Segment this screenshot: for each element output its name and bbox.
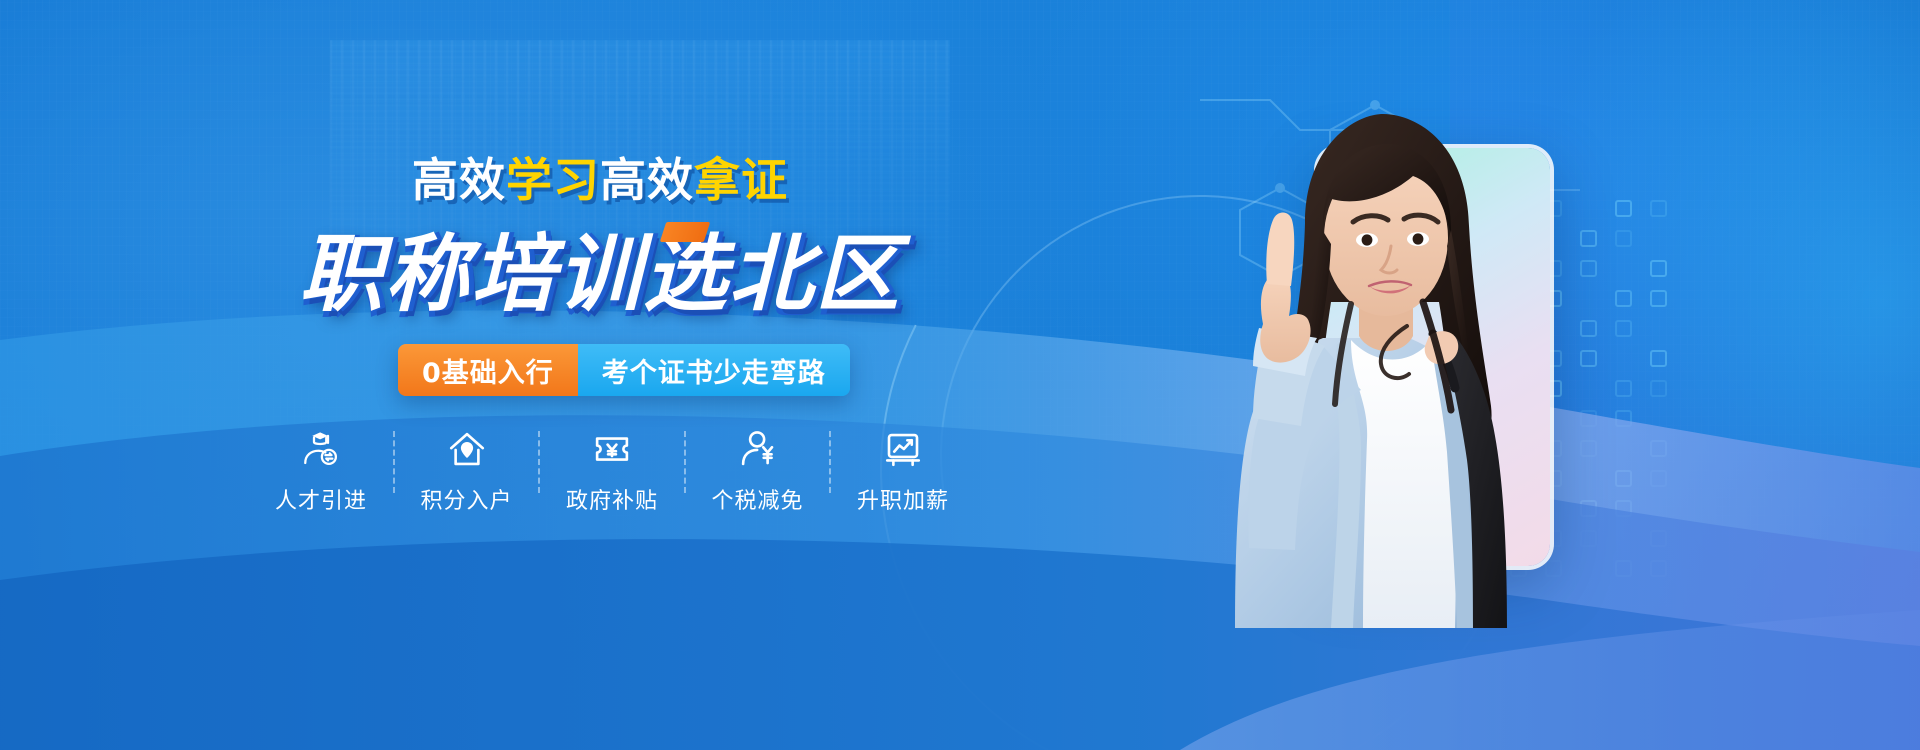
tagline-highlight: 0基础入行 (398, 344, 578, 396)
feature-label-2: 政府补贴 (566, 483, 658, 515)
feature-item-1[interactable]: 积分入户 (408, 425, 526, 515)
feature-divider-1 (538, 431, 540, 493)
headline-line: 职称培训选北区 (250, 218, 950, 316)
feature-divider-2 (684, 431, 686, 493)
feature-row: 人才引进 积分入户 政府补贴 (262, 425, 962, 515)
feature-label-4: 升职加薪 (857, 483, 949, 515)
graduate-person-icon (300, 425, 342, 473)
eyebrow-seg-1: 学习 (506, 144, 600, 210)
square-decoration (1615, 470, 1632, 487)
square-decoration (1650, 530, 1667, 547)
square-decoration (1650, 260, 1667, 277)
feature-label-0: 人才引进 (275, 483, 367, 515)
person-photo (1155, 88, 1595, 628)
square-decoration (1615, 290, 1632, 307)
feature-item-4[interactable]: 升职加薪 (844, 425, 962, 515)
square-decoration (1650, 200, 1667, 217)
square-decoration (1615, 230, 1632, 247)
square-decoration (1615, 410, 1632, 427)
feature-label-3: 个税减免 (711, 483, 803, 515)
chart-board-icon (882, 425, 924, 473)
square-decoration (1615, 560, 1632, 577)
feature-item-2[interactable]: 政府补贴 (553, 425, 671, 515)
copy-block: 高效 学习 高效 拿证 职称培训选北区 0基础入行 考个证书少走弯路 (250, 150, 950, 396)
ticket-yuan-icon (591, 425, 633, 473)
orange-accent-slash (660, 222, 710, 242)
feature-item-0[interactable]: 人才引进 (262, 425, 380, 515)
feature-divider-0 (393, 431, 395, 493)
square-decoration (1615, 500, 1632, 517)
eyebrow-seg-0: 高效 (412, 144, 506, 210)
square-decoration (1650, 350, 1667, 367)
feature-divider-3 (829, 431, 831, 493)
eyebrow-seg-3: 拿证 (694, 144, 788, 210)
square-decoration (1650, 380, 1667, 397)
tagline-pill: 0基础入行 考个证书少走弯路 (398, 344, 850, 396)
tagline-text: 考个证书少走弯路 (578, 344, 850, 396)
square-decoration (1650, 560, 1667, 577)
square-decoration (1615, 200, 1632, 217)
headline-text: 职称培训选北区 (299, 207, 901, 328)
square-decoration (1615, 320, 1632, 337)
eyebrow-line: 高效 学习 高效 拿证 (250, 150, 950, 204)
square-decoration (1650, 290, 1667, 307)
feature-label-1: 积分入户 (420, 483, 512, 515)
promo-banner: 高效 学习 高效 拿证 职称培训选北区 0基础入行 考个证书少走弯路 (0, 0, 1920, 750)
square-decoration (1650, 470, 1667, 487)
square-decoration (1615, 380, 1632, 397)
person-yuan-icon (737, 425, 779, 473)
eyebrow-seg-2: 高效 (600, 144, 694, 210)
home-location-icon (446, 425, 488, 473)
square-decoration (1650, 440, 1667, 457)
feature-item-3[interactable]: 个税减免 (699, 425, 817, 515)
